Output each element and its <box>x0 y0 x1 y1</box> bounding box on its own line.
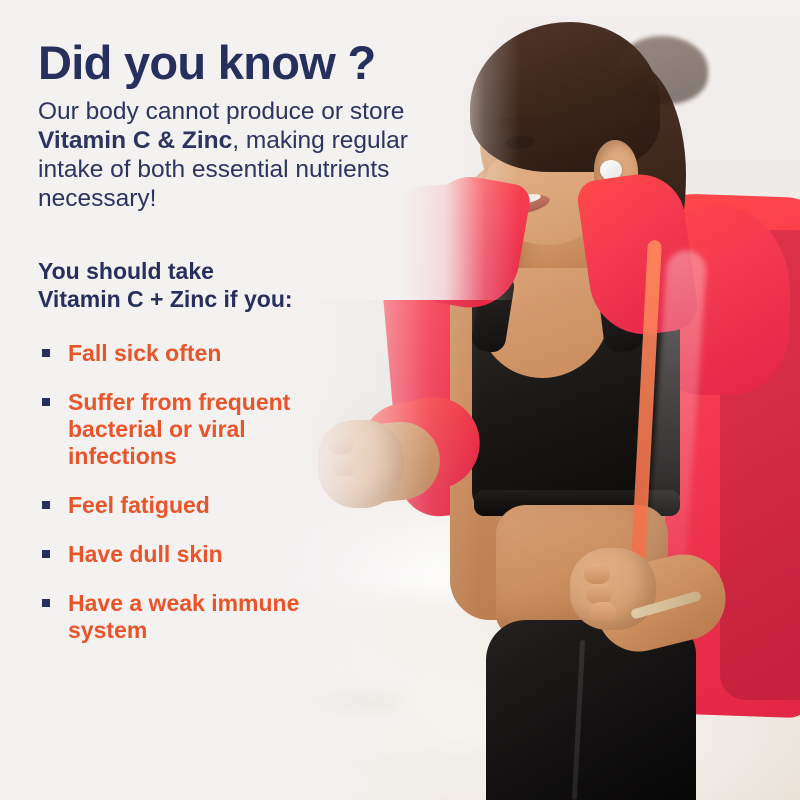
lede-before: Our body cannot produce or store <box>38 98 404 125</box>
list-item-label: Have a weak immune system <box>68 590 299 643</box>
list-item: Have dull skin <box>38 541 338 568</box>
knuckle <box>584 564 610 584</box>
list-item: Suffer from frequent bacterial or viral … <box>38 389 338 470</box>
list-item-label: Suffer from frequent bacterial or viral … <box>68 389 290 469</box>
list-item-label: Have dull skin <box>68 541 223 567</box>
headline: Did you know ? <box>38 38 468 88</box>
poster-canvas: Did you know ? Our body cannot produce o… <box>0 0 800 800</box>
list-item: Feel fatigued <box>38 492 338 519</box>
square-bullet-icon <box>42 398 50 406</box>
knuckle <box>590 602 616 622</box>
square-bullet-icon <box>42 599 50 607</box>
subhead: You should take Vitamin C + Zinc if you: <box>38 257 468 313</box>
list-item-label: Fall sick often <box>68 340 221 366</box>
list-item: Have a weak immune system <box>38 590 338 644</box>
lede-bold: Vitamin C & Zinc <box>38 127 232 154</box>
subhead-line-1: You should take <box>38 257 468 285</box>
list-item-label: Feel fatigued <box>68 492 210 518</box>
lede-paragraph: Our body cannot produce or store Vitamin… <box>38 98 458 214</box>
square-bullet-icon <box>42 550 50 558</box>
symptom-list: Fall sick often Suffer from frequent bac… <box>38 340 338 645</box>
copy-block: Did you know ? Our body cannot produce o… <box>38 38 468 667</box>
square-bullet-icon <box>42 501 50 509</box>
list-item: Fall sick often <box>38 340 338 367</box>
subhead-line-2: Vitamin C + Zinc if you: <box>38 285 468 313</box>
hair-wisp <box>616 36 708 104</box>
knuckle <box>586 584 612 604</box>
right-fist <box>570 548 656 630</box>
leggings <box>486 620 696 800</box>
square-bullet-icon <box>42 349 50 357</box>
